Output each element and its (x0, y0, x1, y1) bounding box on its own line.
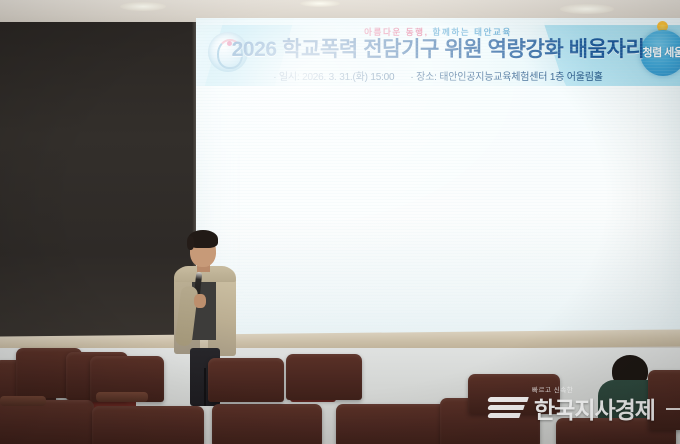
speaker-trouser-seam (204, 368, 206, 406)
banner-top-highlight (196, 18, 680, 25)
slide-title: 2026 학교폭력 전담기구 위원 역량강화 배움자리 (196, 38, 680, 62)
seat-back (0, 400, 94, 444)
wave-swoosh-logo-icon (486, 393, 530, 427)
watermark-brand: 한국지사경제 (534, 397, 655, 423)
slide-date: · 일시: 2026. 3. 31.(화) 15:00 (273, 72, 394, 83)
watermark-dash (666, 408, 680, 410)
ceiling-light-icon (300, 0, 340, 7)
projection-screen: 청렴 세움 아름다운 동행, 함께하는 태안교육 2026 학교폭력 전담기구 … (196, 18, 680, 338)
slide-title-year: 2026 (232, 38, 277, 61)
seat-back (208, 358, 284, 402)
watermark-tagline: 빠르고 신속한 (532, 384, 573, 394)
slide-title-main: 학교폭력 전담기구 위원 역량강화 배움자리 (277, 38, 645, 61)
slide-place: · 장소: 태안인공지능교육체험센터 1층 어울림홀 (410, 72, 602, 83)
slide-banner: 청렴 세움 아름다운 동행, 함께하는 태안교육 2026 학교폭력 전담기구 … (196, 18, 680, 86)
slide-tagline-part1: 아름다운 동행, (364, 27, 428, 37)
seat-back (92, 406, 204, 444)
speaker-hand (194, 294, 206, 308)
seat-armrest (0, 396, 46, 406)
speaker-sideburn (187, 236, 194, 250)
photograph: 청렴 세움 아름다운 동행, 함께하는 태안교육 2026 학교폭력 전담기구 … (0, 0, 680, 444)
screen-bottom-glow (196, 218, 680, 338)
seat-back (212, 404, 322, 444)
seat-armrest (96, 392, 148, 402)
slide-tagline: 아름다운 동행, 함께하는 태안교육 (196, 26, 680, 38)
seat-back (286, 354, 362, 400)
slide-tagline-part2: 함께하는 태안교육 (429, 27, 512, 37)
slide-subtitle-line: · 일시: 2026. 3. 31.(화) 15:00· 장소: 태안인공지능교… (196, 68, 680, 83)
seat-back (336, 404, 456, 444)
ceiling-light-icon (120, 2, 166, 11)
press-watermark: 한국지사경제 빠르고 신속한 (486, 386, 680, 434)
ceiling-light-icon (560, 4, 614, 14)
